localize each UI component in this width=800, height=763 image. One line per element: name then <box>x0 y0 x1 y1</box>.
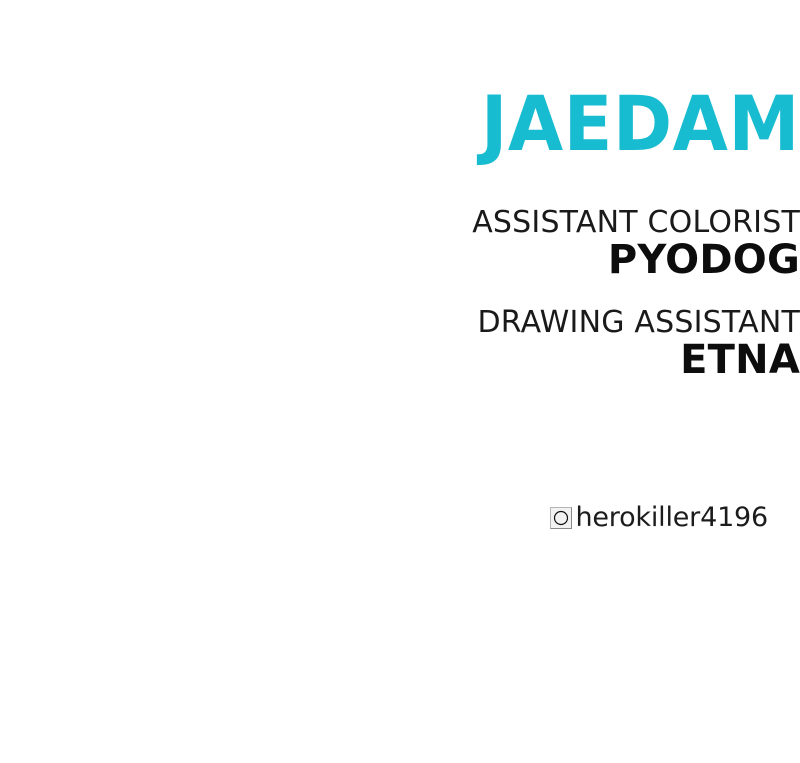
credit-person-name: PYODOG <box>0 238 800 282</box>
studio-logo: JAEDAM <box>48 86 800 162</box>
circle-in-square-icon <box>550 507 572 529</box>
watermark-username: herokiller4196 <box>575 504 768 532</box>
credits-page: JAEDAM ASSISTANT COLORIST PYODOG DRAWING… <box>0 0 800 763</box>
watermark: herokiller4196 <box>550 504 768 532</box>
credit-entry-drawing-assistant: DRAWING ASSISTANT ETNA <box>0 306 800 382</box>
credit-role-label: ASSISTANT COLORIST <box>0 206 800 240</box>
credits-list: ASSISTANT COLORIST PYODOG DRAWING ASSIST… <box>0 206 800 382</box>
credit-person-name: ETNA <box>0 338 800 382</box>
credit-entry-assistant-colorist: ASSISTANT COLORIST PYODOG <box>0 206 800 282</box>
credit-role-label: DRAWING ASSISTANT <box>0 306 800 340</box>
